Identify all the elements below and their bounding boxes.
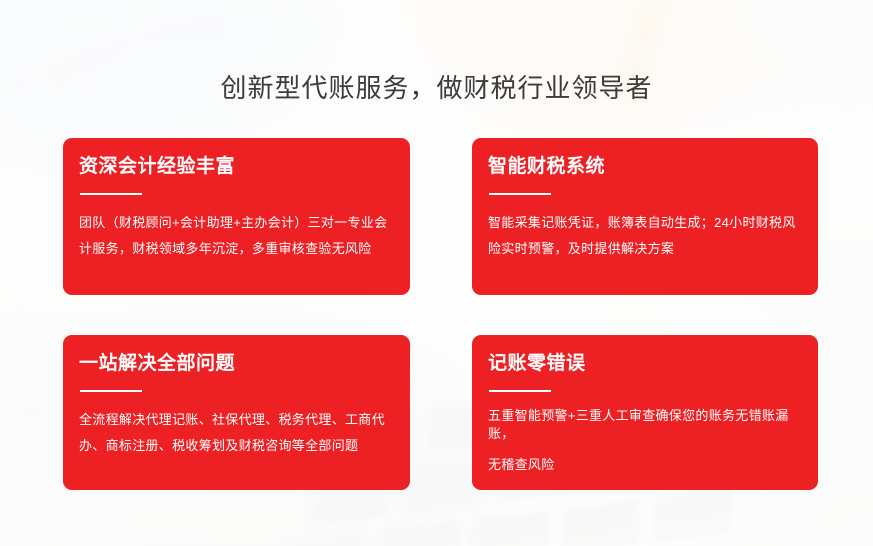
feature-card-body: 团队（财税顾问+会计助理+主办会计）三对一专业会计服务，财税领域多年沉淀，多重审…	[79, 210, 388, 262]
feature-card-heading: 记账零错误	[488, 352, 796, 376]
feature-card-smart-tax-system[interactable]: 智能财税系统 智能采集记账凭证，账簿表自动生成；24小时财税风险实时预警，及时提…	[472, 138, 818, 295]
promo-banner: 创新型代账服务，做财税行业领导者 资深会计经验丰富 团队（财税顾问+会计助理+主…	[0, 0, 873, 546]
feature-card-heading: 资深会计经验丰富	[79, 155, 388, 179]
feature-card-body-secondary: 无稽查风险	[488, 456, 796, 474]
feature-card-body: 智能采集记账凭证，账簿表自动生成；24小时财税风险实时预警，及时提供解决方案	[488, 210, 796, 262]
feature-card-heading: 一站解决全部问题	[79, 352, 388, 376]
feature-card-heading: 智能财税系统	[488, 155, 796, 179]
feature-card-experienced-accountants[interactable]: 资深会计经验丰富 团队（财税顾问+会计助理+主办会计）三对一专业会计服务，财税领…	[63, 138, 410, 295]
feature-card-one-stop-solution[interactable]: 一站解决全部问题 全流程解决代理记账、社保代理、税务代理、工商代办、商标注册、税…	[63, 335, 410, 490]
heading-underline-rule	[80, 390, 142, 392]
heading-underline-rule	[80, 193, 142, 195]
heading-underline-rule	[489, 193, 551, 195]
page-title: 创新型代账服务，做财税行业领导者	[0, 71, 873, 105]
feature-card-body: 全流程解决代理记账、社保代理、税务代理、工商代办、商标注册、税收筹划及财税咨询等…	[79, 407, 388, 459]
feature-card-zero-error-bookkeeping[interactable]: 记账零错误 五重智能预警+三重人工审查确保您的账务无错账漏账， 无稽查风险	[472, 335, 818, 490]
banner-content: 创新型代账服务，做财税行业领导者 资深会计经验丰富 团队（财税顾问+会计助理+主…	[0, 0, 873, 546]
heading-underline-rule	[489, 390, 551, 392]
feature-card-body: 五重智能预警+三重人工审查确保您的账务无错账漏账，	[488, 407, 796, 443]
